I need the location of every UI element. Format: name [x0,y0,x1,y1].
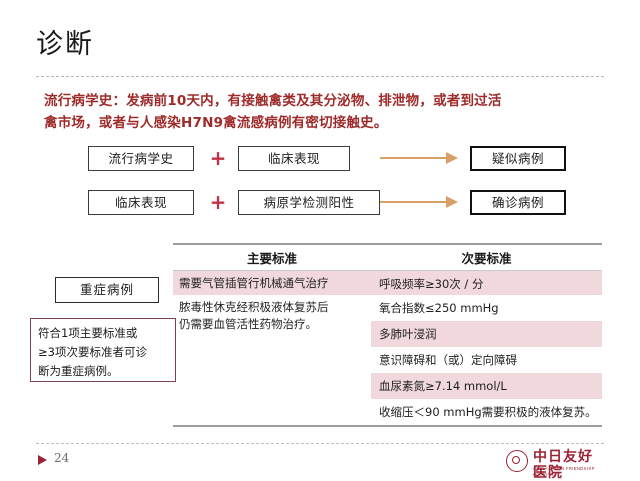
criteria-line-1: 符合1项主要标准或 [38,324,169,343]
flow-box-epidemiology-history: 流行病学史 [88,146,194,171]
table-column-minor: 呼吸频率≥30次 / 分 氧合指数≤250 mmHg 多肺叶浸润 意识障碍和（或… [371,271,602,427]
table-row: 脓毒性休克经积极液体复苏后 仍需要血管活性药物治疗。 [173,295,371,341]
epidemiology-statement: 流行病学史：发病前10天内，有接触禽类及其分泌物、排泄物，或者到过活 禽市场，或… [44,90,604,134]
table-column-major: 需要气管插管行机械通气治疗 脓毒性休克经积极液体复苏后 仍需要血管活性药物治疗。 [173,271,371,341]
epidemiology-line-2: 禽市场，或者与人感染H7N9禽流感病例有密切接触史。 [44,112,604,134]
arrow-right-icon-2 [380,190,464,215]
table-header-row: 主要标准 次要标准 [173,245,602,271]
major-item-2-line-1: 脓毒性休克经积极液体复苏后 [179,300,329,314]
table-row: 呼吸频率≥30次 / 分 [371,271,602,295]
criteria-line-3: 断为重症病例。 [38,362,169,381]
flow-box-clinical-manifestation-2: 临床表现 [88,190,194,215]
slide-canvas: 诊断 流行病学史：发病前10天内，有接触禽类及其分泌物、排泄物，或者到过活 禽市… [0,0,640,480]
table-row: 血尿素氮≥7.14 mmol/L [371,373,602,399]
logo-emblem-icon [506,450,528,472]
hospital-logo: 中日友好医院 CHINA-JAPAN FRIENDSHIP HOSPITAL [506,449,604,475]
severity-criteria-table: 主要标准 次要标准 需要气管插管行机械通气治疗 脓毒性休克经积极液体复苏后 仍需… [173,243,602,427]
flow-box-clinical-manifestation: 临床表现 [238,146,350,171]
flow-row-suspected: 流行病学史 + 临床表现 疑似病例 [0,146,640,174]
table-row: 需要气管插管行机械通气治疗 [173,271,371,295]
table-header-minor: 次要标准 [371,248,602,267]
arrow-right-icon [380,146,464,171]
title-divider [36,76,604,77]
severe-case-criteria-box: 符合1项主要标准或 ≥3项次要标准者可诊 断为重症病例。 [30,318,176,382]
table-header-major: 主要标准 [173,248,371,267]
plus-icon: + [208,146,228,171]
triangle-bullet-icon [38,455,47,465]
severe-case-label: 重症病例 [55,277,159,303]
criteria-line-2: ≥3项次要标准者可诊 [38,343,169,362]
table-row: 收缩压＜90 mmHg需要积极的液体复苏。 [371,399,602,427]
logo-name-en: CHINA-JAPAN FRIENDSHIP HOSPITAL [533,466,604,478]
major-item-2-line-2: 仍需要血管活性药物治疗。 [179,317,317,331]
page-number: 24 [54,451,69,465]
footer-divider [36,443,604,444]
diagnosis-flow-diagram: 流行病学史 + 临床表现 疑似病例 临床表现 + 病原学检测阳性 确诊病例 [0,140,640,230]
flow-box-confirmed-case: 确诊病例 [470,190,566,215]
table-row: 氧合指数≤250 mmHg [371,295,602,321]
table-row: 多肺叶浸润 [371,321,602,347]
page-title: 诊断 [36,28,94,62]
flow-box-pathogen-positive: 病原学检测阳性 [238,190,380,215]
table-body: 需要气管插管行机械通气治疗 脓毒性休克经积极液体复苏后 仍需要血管活性药物治疗。… [173,271,602,425]
flow-row-confirmed: 临床表现 + 病原学检测阳性 确诊病例 [0,190,640,218]
epidemiology-line-1: 流行病学史：发病前10天内，有接触禽类及其分泌物、排泄物，或者到过活 [44,90,604,112]
flow-box-suspected-case: 疑似病例 [470,146,566,171]
plus-icon-2: + [208,190,228,215]
table-row: 意识障碍和（或）定向障碍 [371,347,602,373]
